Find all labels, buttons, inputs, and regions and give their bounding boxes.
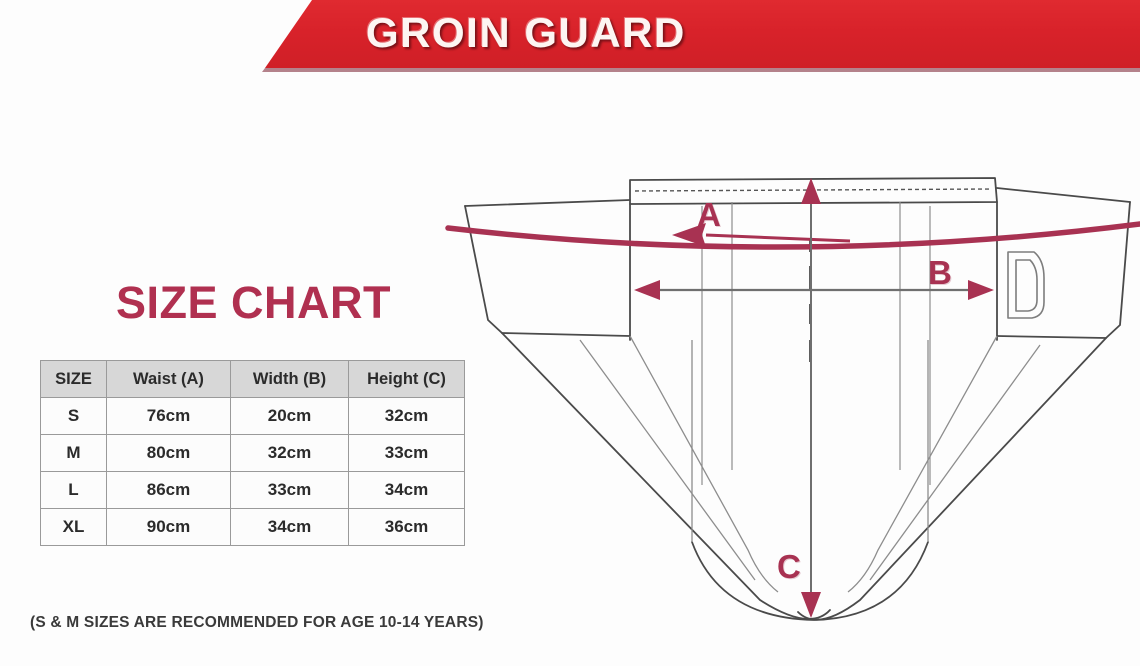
cell-size: S: [41, 398, 107, 435]
cell-waist: 86cm: [107, 472, 231, 509]
dimension-a-arrow: [448, 223, 1140, 247]
table-row: M 80cm 32cm 33cm: [41, 435, 465, 472]
column-header-size: SIZE: [41, 361, 107, 398]
column-header-width: Width (B): [231, 361, 349, 398]
cell-size: XL: [41, 509, 107, 546]
cell-width: 34cm: [231, 509, 349, 546]
age-recommendation-note: (S & M SIZES ARE RECOMMENDED FOR AGE 10-…: [30, 613, 484, 633]
table-header-row: SIZE Waist (A) Width (B) Height (C): [41, 361, 465, 398]
cell-waist: 90cm: [107, 509, 231, 546]
dimension-label-a: A: [697, 198, 721, 231]
column-header-waist: Waist (A): [107, 361, 231, 398]
cell-width: 32cm: [231, 435, 349, 472]
cell-width: 20cm: [231, 398, 349, 435]
dimension-label-b: B: [928, 256, 952, 289]
cell-size: M: [41, 435, 107, 472]
cell-size: L: [41, 472, 107, 509]
cell-waist: 80cm: [107, 435, 231, 472]
table-row: XL 90cm 34cm 36cm: [41, 509, 465, 546]
dimension-label-c: C: [777, 550, 801, 583]
table-row: S 76cm 20cm 32cm: [41, 398, 465, 435]
cell-width: 33cm: [231, 472, 349, 509]
cell-waist: 76cm: [107, 398, 231, 435]
size-table: SIZE Waist (A) Width (B) Height (C) S 76…: [40, 360, 465, 546]
page-title: GROIN GUARD: [366, 7, 686, 59]
size-chart-page: GROIN GUARD SIZE CHART SIZE Waist (A) Wi…: [0, 0, 1140, 666]
size-chart-heading: SIZE CHART: [116, 277, 391, 329]
table-row: L 86cm 33cm 34cm: [41, 472, 465, 509]
